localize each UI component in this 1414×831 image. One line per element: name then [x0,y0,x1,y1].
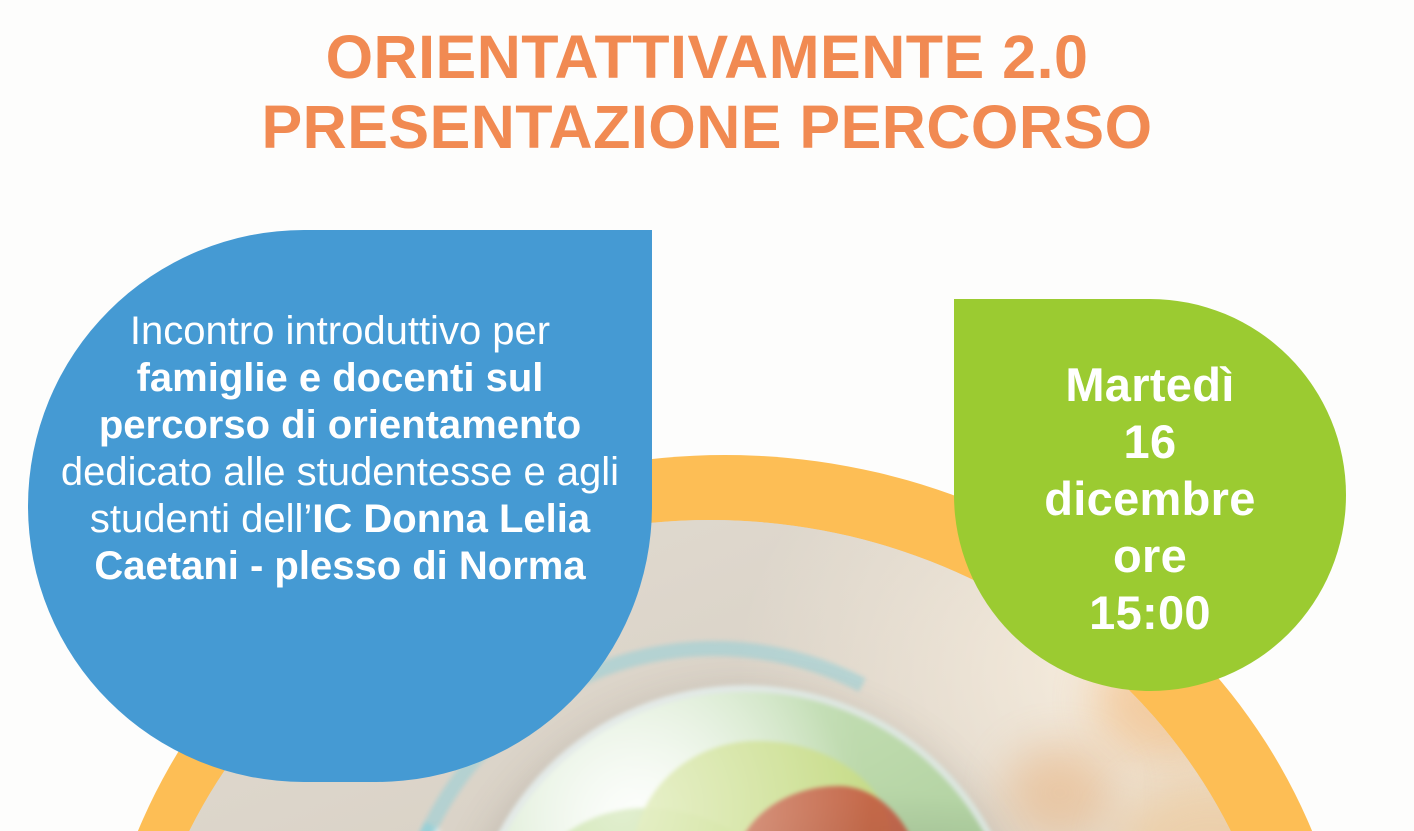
date-day: 16 [1044,413,1255,470]
bokeh-highlight-icon [1005,745,1115,831]
date-month: dicembre [1044,470,1255,527]
date-weekday: Martedì [1044,356,1255,413]
date-time: 15:00 [1044,584,1255,641]
poster-canvas: ORIENTATTIVAMENTE 2.0 PRESENTAZIONE PERC… [0,0,1414,831]
date-time-label: ore [1044,527,1255,584]
date-badge-text: Martedì 16 dicembre ore 15:00 [1044,356,1255,641]
date-badge: Martedì 16 dicembre ore 15:00 [954,299,1346,691]
info-card: Incontro introduttivo per famiglie e doc… [28,230,652,782]
info-card-text: Incontro introduttivo per famiglie e doc… [56,308,624,590]
